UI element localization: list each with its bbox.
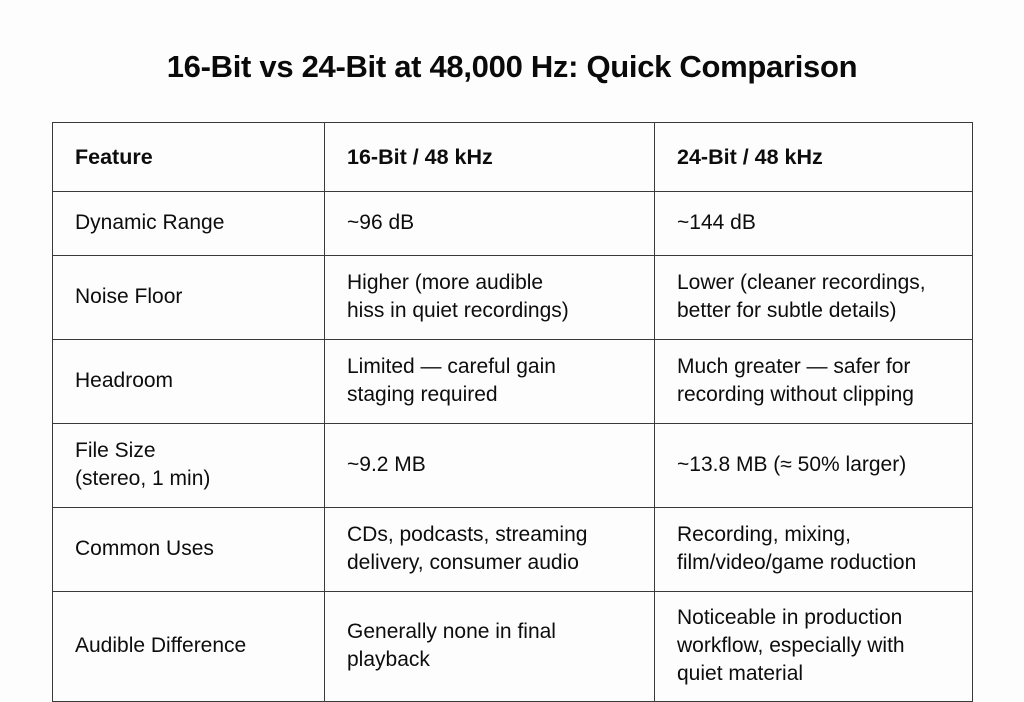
value-line: ~96 dB xyxy=(347,209,640,237)
table-row: File Size (stereo, 1 min) ~9.2 MB ~13.8 … xyxy=(53,424,973,508)
cell-16bit: CDs, podcasts, streaming delivery, consu… xyxy=(325,508,655,592)
value-line: Generally none in final xyxy=(347,618,640,646)
table-row: Headroom Limited — careful gain staging … xyxy=(53,340,973,424)
value-line: delivery, consumer audio xyxy=(347,549,640,577)
cell-24bit: Much greater — safer for recording witho… xyxy=(655,340,973,424)
value-line: film/video/game roduction xyxy=(677,549,958,577)
comparison-table-page: 16-Bit vs 24-Bit at 48,000 Hz: Quick Com… xyxy=(0,0,1024,683)
feature-label: Headroom xyxy=(75,367,310,395)
feature-label: Noise Floor xyxy=(75,283,310,311)
comparison-table-container: Feature 16-Bit / 48 kHz 24-Bit / 48 kHz … xyxy=(52,122,972,702)
value-line: Limited — careful gain xyxy=(347,353,640,381)
cell-24bit: ~13.8 MB (≈ 50% larger) xyxy=(655,424,973,508)
table-header-row: Feature 16-Bit / 48 kHz 24-Bit / 48 kHz xyxy=(53,123,973,192)
value-line: recording without clipping xyxy=(677,381,958,409)
cell-feature: Noise Floor xyxy=(53,256,325,340)
cell-feature: Headroom xyxy=(53,340,325,424)
value-line: better for subtle details) xyxy=(677,297,958,325)
cell-24bit: Recording, mixing, film/video/game roduc… xyxy=(655,508,973,592)
value-line: Higher (more audible xyxy=(347,269,640,297)
value-line: Much greater — safer for xyxy=(677,353,958,381)
table-row: Common Uses CDs, podcasts, streaming del… xyxy=(53,508,973,592)
table-body: Dynamic Range ~96 dB ~144 dB Noise Floor… xyxy=(53,192,973,702)
feature-label: File Size xyxy=(75,437,310,465)
value-line: staging required xyxy=(347,381,640,409)
value-line: Noticeable in production xyxy=(677,604,958,632)
cell-16bit: ~9.2 MB xyxy=(325,424,655,508)
feature-label: Common Uses xyxy=(75,535,310,563)
cell-feature: Audible Difference xyxy=(53,592,325,702)
cell-16bit: ~96 dB xyxy=(325,192,655,256)
cell-16bit: Generally none in final playback xyxy=(325,592,655,702)
cell-16bit: Limited — careful gain staging required xyxy=(325,340,655,424)
cell-feature: File Size (stereo, 1 min) xyxy=(53,424,325,508)
table-row: Noise Floor Higher (more audible hiss in… xyxy=(53,256,973,340)
cell-16bit: Higher (more audible hiss in quiet recor… xyxy=(325,256,655,340)
cell-24bit: Noticeable in production workflow, espec… xyxy=(655,592,973,702)
value-line: ~144 dB xyxy=(677,209,958,237)
value-line: hiss in quiet recordings) xyxy=(347,297,640,325)
table-header: Feature 16-Bit / 48 kHz 24-Bit / 48 kHz xyxy=(53,123,973,192)
column-header-16bit: 16-Bit / 48 kHz xyxy=(325,123,655,192)
cell-feature: Common Uses xyxy=(53,508,325,592)
value-line: playback xyxy=(347,646,640,674)
value-line: ~9.2 MB xyxy=(347,451,640,479)
cell-24bit: Lower (cleaner recordings, better for su… xyxy=(655,256,973,340)
page-title: 16-Bit vs 24-Bit at 48,000 Hz: Quick Com… xyxy=(0,48,1024,85)
table-row: Dynamic Range ~96 dB ~144 dB xyxy=(53,192,973,256)
feature-sublabel: (stereo, 1 min) xyxy=(75,465,310,493)
feature-label: Audible Difference xyxy=(75,632,310,660)
column-header-feature: Feature xyxy=(53,123,325,192)
table-row: Audible Difference Generally none in fin… xyxy=(53,592,973,702)
value-line: CDs, podcasts, streaming xyxy=(347,521,640,549)
cell-feature: Dynamic Range xyxy=(53,192,325,256)
value-line: quiet material xyxy=(677,660,958,688)
value-line: Lower (cleaner recordings, xyxy=(677,269,958,297)
column-header-24bit: 24-Bit / 48 kHz xyxy=(655,123,973,192)
feature-label: Dynamic Range xyxy=(75,209,310,237)
value-line: ~13.8 MB (≈ 50% larger) xyxy=(677,451,958,479)
cell-24bit: ~144 dB xyxy=(655,192,973,256)
value-line: workflow, especially with xyxy=(677,632,958,660)
comparison-table: Feature 16-Bit / 48 kHz 24-Bit / 48 kHz … xyxy=(52,122,973,702)
value-line: Recording, mixing, xyxy=(677,521,958,549)
